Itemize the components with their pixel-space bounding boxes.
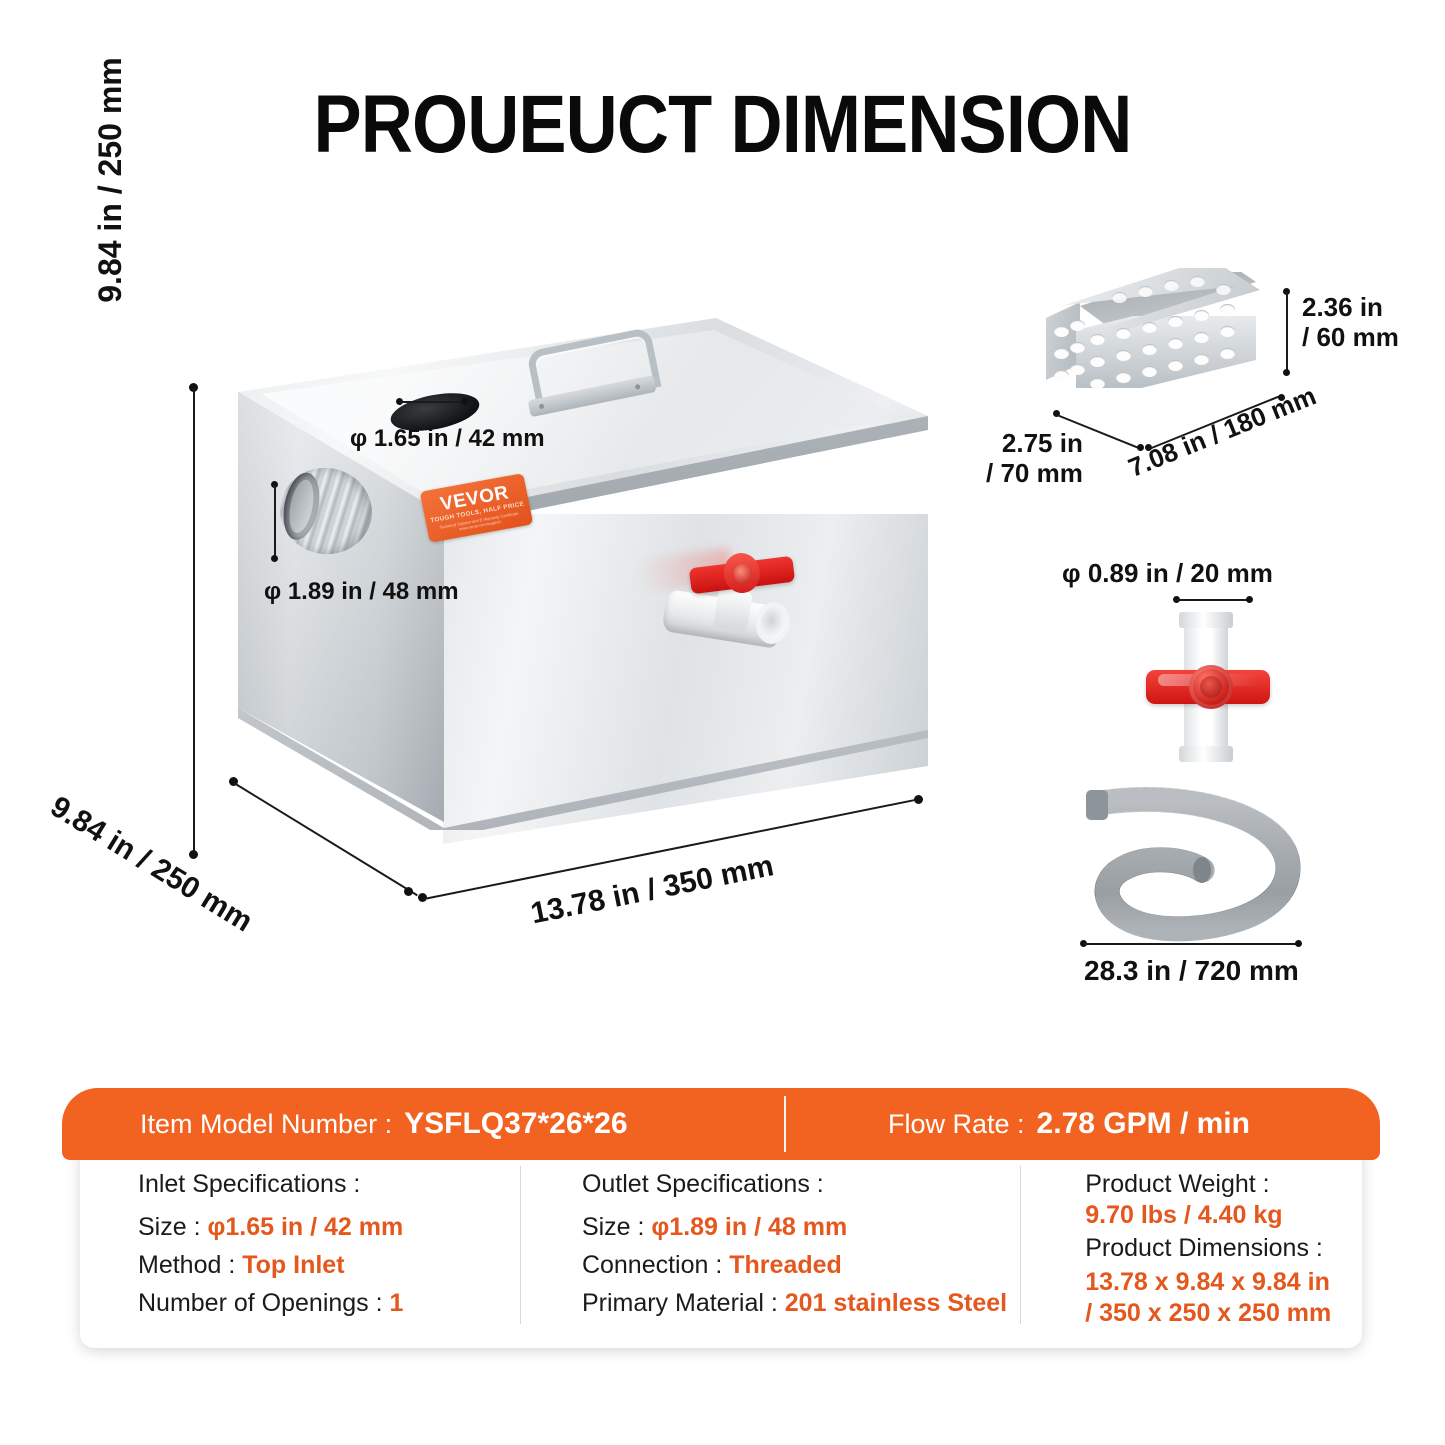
infographic-canvas: PROUEUCT DIMENSION VEVOR TOUGH TOOLS, HA… — [0, 0, 1445, 1445]
basket-hole — [1070, 342, 1085, 353]
basket-width-line1: 2.75 in — [1002, 428, 1083, 458]
height-dim-dot-bottom — [189, 850, 198, 859]
spec-column-product: Product Weight : 9.70 lbs / 4.40 kg Prod… — [1043, 1144, 1362, 1348]
inlet-openings-label: Number of Openings : — [138, 1289, 383, 1317]
outlet-material-label: Primary Material : — [582, 1289, 778, 1317]
basket-hole — [1220, 348, 1235, 359]
product-dims-label: Product Dimensions : — [1085, 1234, 1362, 1263]
basket-height-dot-bottom — [1283, 369, 1290, 376]
flexible-hose-illustration — [1076, 786, 1336, 946]
specifications-card: Inlet Specifications : Size : φ1.65 in /… — [62, 1088, 1380, 1356]
valve-diameter-label: φ 0.89 in / 20 mm — [1062, 558, 1273, 588]
spec-column-outlet: Outlet Specifications : Size : φ1.89 in … — [544, 1144, 1043, 1348]
basket-hole — [1164, 280, 1179, 291]
hose-dim-dot-b — [1295, 940, 1302, 947]
ball-valve-illustration — [1148, 612, 1268, 762]
inlet-method-value: Top Inlet — [242, 1251, 344, 1279]
flow-rate-cell: Flow Rate : 2.78 GPM / min — [800, 1107, 1250, 1141]
basket-height-line1: 2.36 in — [1302, 292, 1383, 322]
basket-hole — [1116, 372, 1131, 383]
outlet-spec-title: Outlet Specifications : — [582, 1170, 1043, 1199]
hose-drawing — [1076, 786, 1336, 946]
inlet-openings-value: 1 — [390, 1289, 404, 1317]
page-title: PROUEUCT DIMENSION — [87, 78, 1359, 172]
inlet-size-value: φ1.65 in / 42 mm — [207, 1213, 403, 1241]
basket-hole — [1054, 348, 1069, 359]
basket-hole — [1220, 326, 1235, 337]
spec-divider-1 — [520, 1166, 521, 1324]
basket-hole — [1090, 356, 1105, 367]
basket-hole — [1168, 360, 1183, 371]
basket-hole — [1190, 276, 1205, 287]
mounted-drain-valve — [660, 540, 810, 660]
basket-hole — [1070, 320, 1085, 331]
outlet-size-row: Size : φ1.89 in / 48 mm — [582, 1213, 1043, 1242]
outlet-material-row: Primary Material : 201 stainless Steel — [582, 1289, 1043, 1318]
outlet-connection-label: Connection : — [582, 1251, 722, 1279]
outlet-connection-value: Threaded — [729, 1251, 842, 1279]
inlet-openings-row: Number of Openings : 1 — [138, 1289, 544, 1318]
basket-hole — [1194, 354, 1209, 365]
outlet-callout-dot-b — [271, 555, 278, 562]
product-dims-value-line2: / 350 x 250 x 250 mm — [1085, 1298, 1362, 1329]
perforated-basket-illustration — [1046, 262, 1286, 412]
threaded-outlet-port — [273, 460, 380, 562]
basket-hole — [1116, 350, 1131, 361]
basket-hole — [1138, 286, 1153, 297]
basket-hole — [1194, 332, 1209, 343]
basket-height-line2: / 60 mm — [1302, 322, 1399, 352]
hose-dim-line — [1084, 943, 1298, 945]
basket-height-line — [1286, 292, 1288, 372]
basket-hole — [1116, 328, 1131, 339]
inlet-size-row: Size : φ1.65 in / 42 mm — [138, 1213, 544, 1242]
basket-hole — [1216, 284, 1231, 295]
inlet-spec-title: Inlet Specifications : — [138, 1170, 544, 1199]
model-number-label: Item Model Number : — [140, 1109, 392, 1140]
outlet-port-label: φ 1.89 in / 48 mm — [264, 578, 459, 606]
unit-height-label: 9.84 in / 250 mm — [92, 0, 129, 400]
inlet-size-label: Size : — [138, 1213, 201, 1241]
valve-dim-dot-b — [1246, 596, 1253, 603]
product-dims-value-line1: 13.78 x 9.84 x 9.84 in — [1085, 1267, 1362, 1298]
spec-divider-2 — [1020, 1166, 1021, 1324]
flow-rate-label: Flow Rate : — [888, 1109, 1025, 1140]
basket-hole — [1112, 292, 1127, 303]
basket-hole — [1194, 310, 1209, 321]
spec-card-body: Inlet Specifications : Size : φ1.65 in /… — [80, 1144, 1362, 1348]
basket-hole — [1090, 378, 1105, 389]
inlet-hole-label: φ 1.65 in / 42 mm — [350, 425, 545, 453]
outlet-size-value: φ1.89 in / 48 mm — [651, 1213, 847, 1241]
width-dim-dot-b — [914, 795, 923, 804]
inlet-method-label: Method : — [138, 1251, 235, 1279]
basket-width-line2: / 70 mm — [986, 458, 1083, 488]
basket-height-label: 2.36 in / 60 mm — [1302, 292, 1399, 352]
basket-hole — [1142, 366, 1157, 377]
model-number-cell: Item Model Number : YSFLQ37*26*26 — [62, 1107, 800, 1141]
spec-columns: Inlet Specifications : Size : φ1.65 in /… — [80, 1144, 1362, 1348]
outlet-material-value: 201 stainless Steel — [785, 1289, 1007, 1317]
basket-hole — [1090, 334, 1105, 345]
valve-dim-line — [1177, 599, 1249, 601]
model-number-value: YSFLQ37*26*26 — [404, 1107, 627, 1141]
inlet-callout-dot-b — [461, 398, 468, 405]
outlet-connection-row: Connection : Threaded — [582, 1251, 1043, 1280]
basket-hole — [1168, 338, 1183, 349]
outlet-callout-line — [274, 485, 276, 557]
basket-hole — [1142, 344, 1157, 355]
inlet-method-row: Method : Top Inlet — [138, 1251, 544, 1280]
spec-column-inlet: Inlet Specifications : Size : φ1.65 in /… — [80, 1144, 544, 1348]
flow-rate-value: 2.78 GPM / min — [1037, 1107, 1250, 1141]
grease-trap-illustration: VEVOR TOUGH TOOLS, HALF PRICE Technical … — [228, 318, 928, 928]
height-dim-line — [193, 388, 195, 854]
valve-handle-hub — [1189, 665, 1233, 709]
depth-dim-dot-b — [404, 887, 413, 896]
basket-hole — [1070, 364, 1085, 375]
basket-width-label: 2.75 in / 70 mm — [986, 428, 1083, 488]
basket-hole — [1142, 322, 1157, 333]
inlet-callout-line — [400, 401, 464, 403]
spec-header-bar: Item Model Number : YSFLQ37*26*26 Flow R… — [62, 1088, 1380, 1160]
basket-hole — [1168, 316, 1183, 327]
basket-hole — [1220, 304, 1235, 315]
outlet-size-label: Size : — [582, 1213, 645, 1241]
hose-length-label: 28.3 in / 720 mm — [1084, 955, 1299, 987]
basket-hole — [1054, 370, 1069, 381]
unit-depth-label: 9.84 in / 250 mm — [44, 790, 258, 940]
header-divider — [784, 1096, 786, 1152]
product-weight-value: 9.70 lbs / 4.40 kg — [1085, 1201, 1362, 1230]
basket-hole — [1054, 326, 1069, 337]
product-weight-label: Product Weight : — [1085, 1170, 1362, 1199]
valve-collar — [713, 588, 753, 633]
